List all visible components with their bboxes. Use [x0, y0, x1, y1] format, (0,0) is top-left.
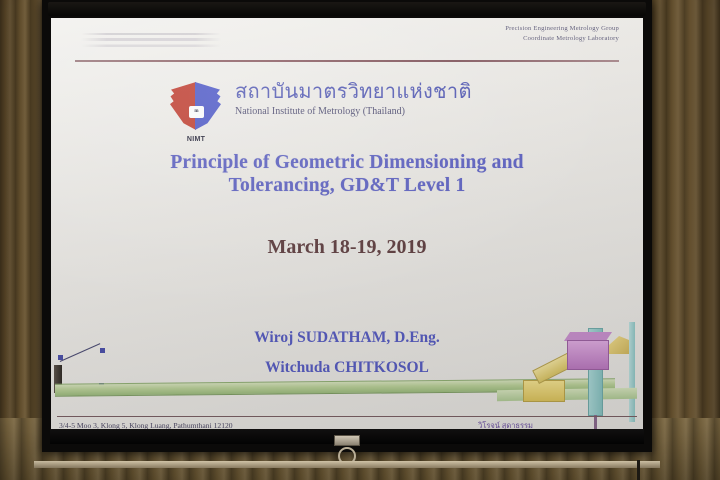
logo-acronym-label: NIMT	[169, 136, 223, 143]
organization-name-english: National Institute of Metrology (Thailan…	[235, 106, 472, 117]
presentation-slide: Precision Engineering Metrology Group Co…	[51, 18, 643, 442]
screen-pull-handle[interactable]	[334, 435, 360, 446]
organization-names: สถาบันมาตรวิทยาแห่งชาติ National Institu…	[235, 80, 472, 117]
cmm-machine-illustration	[497, 318, 637, 428]
slide-title-line-2: Tolerancing, GD&T Level 1	[51, 174, 643, 197]
organization-name-thai: สถาบันมาตรวิทยาแห่งชาติ	[235, 80, 472, 104]
screen-mounting-rail	[34, 461, 660, 468]
screen-roller-housing	[48, 2, 646, 16]
header-department-lines: Precision Engineering Metrology Group Co…	[505, 24, 619, 44]
header-divider-rule	[75, 60, 619, 62]
header-line-lab: Coordinate Metrology Laboratory	[505, 34, 619, 44]
nimt-logo-row: m NIMT สถาบันมาตรวิทยาแห่งชาติ National …	[169, 80, 472, 142]
screen-support-leg	[637, 460, 640, 480]
slide-title-line-1: Principle of Geometric Dimensioning and	[51, 151, 643, 174]
cmm-corner-bracket	[607, 336, 629, 354]
cmm-probe-head	[567, 340, 609, 370]
rail-marker-node-icon	[58, 355, 63, 360]
cmm-vertical-guide	[629, 322, 635, 422]
header-line-group: Precision Engineering Metrology Group	[505, 24, 619, 34]
projector-screen-frame: Precision Engineering Metrology Group Co…	[42, 0, 652, 452]
institute-watermark-image	[81, 26, 221, 52]
logo-center-hub: m	[189, 106, 204, 118]
cmm-base-rail	[497, 388, 637, 401]
rail-marker-node-icon	[100, 348, 105, 353]
projector-screen-assembly: Precision Engineering Metrology Group Co…	[42, 0, 652, 462]
cmm-carriage-block	[523, 380, 565, 402]
slide-title: Principle of Geometric Dimensioning and …	[51, 151, 643, 197]
nimt-logo-icon: m NIMT	[169, 80, 223, 142]
footer-divider-rule	[57, 416, 637, 417]
slide-date: March 18-19, 2019	[51, 236, 643, 259]
